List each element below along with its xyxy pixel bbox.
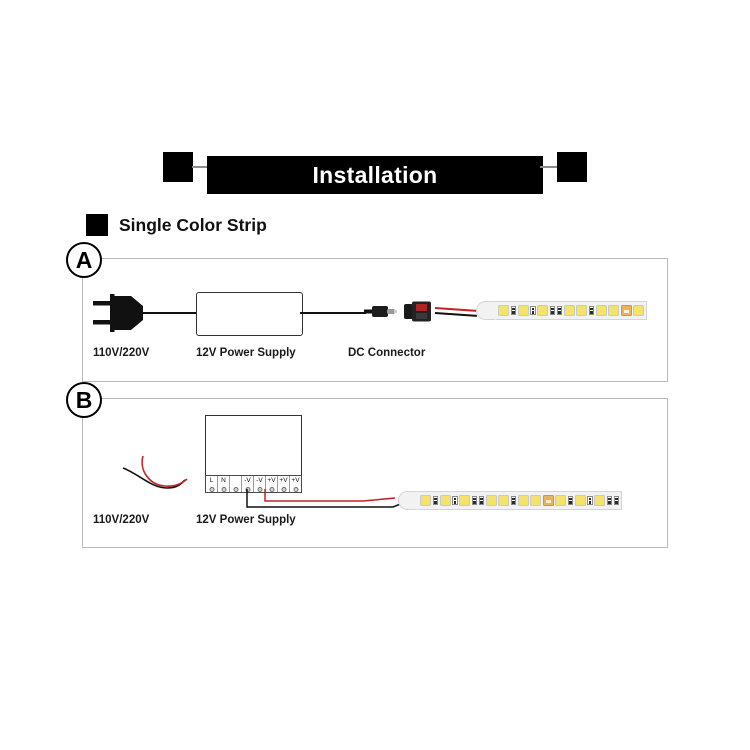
panel-badge-a: A — [66, 242, 102, 278]
dc-barrel-adapter-female-icon — [403, 300, 437, 323]
strip-body — [418, 491, 622, 510]
strip-body — [496, 301, 647, 320]
gold-component — [543, 495, 554, 506]
dc-cord-a — [300, 312, 366, 314]
power-supply-brick-a — [196, 292, 303, 336]
led-chip — [518, 495, 529, 506]
resistor-chip — [452, 496, 458, 505]
led-chip — [518, 305, 529, 316]
section-title: Single Color Strip — [119, 215, 267, 236]
ac-cord-a — [140, 312, 198, 314]
terminal-screw — [209, 487, 214, 492]
led-chip — [575, 495, 586, 506]
led-strip-a — [476, 301, 647, 320]
led-chip — [530, 495, 541, 506]
led-chip — [498, 305, 509, 316]
banner-connector-right — [540, 166, 558, 168]
terminal-screw — [221, 487, 226, 492]
led-chip — [486, 495, 497, 506]
led-chip — [633, 305, 644, 316]
dc-barrel-plug-male-icon — [364, 304, 398, 319]
caption-input-voltage-b: 110V/220V — [93, 514, 149, 526]
led-chip — [564, 305, 575, 316]
terminal-ground — [230, 476, 242, 492]
resistor-chip — [472, 496, 478, 505]
panel-badge-b: B — [66, 382, 102, 418]
terminal-n: N — [218, 476, 230, 492]
banner-end-cap-left — [163, 152, 193, 182]
gold-component — [621, 305, 632, 316]
led-chip — [594, 495, 605, 506]
caption-input-voltage-a: 110V/220V — [93, 347, 149, 359]
led-chip — [440, 495, 451, 506]
dc-lead-black — [435, 312, 477, 317]
page-title: Installation — [312, 162, 437, 189]
resistor-chip — [587, 496, 593, 505]
resistor-chip — [614, 496, 620, 505]
title-banner: Installation — [163, 152, 587, 196]
led-chip — [576, 305, 587, 316]
installation-diagram-page: Installation Single Color Strip A — [0, 0, 750, 750]
led-chip — [459, 495, 470, 506]
resistor-chip — [589, 306, 595, 315]
strip-tip — [398, 491, 418, 510]
resistor-chip — [479, 496, 485, 505]
ac-input-wires-b — [121, 454, 201, 494]
terminal-l: L — [206, 476, 218, 492]
section-heading: Single Color Strip — [86, 214, 267, 236]
resistor-chip — [511, 496, 517, 505]
banner-bar: Installation — [207, 156, 543, 194]
strip-tip — [476, 301, 496, 320]
resistor-chip — [568, 496, 574, 505]
led-chip — [608, 305, 619, 316]
panel-a: A 110V/ — [82, 258, 668, 382]
resistor-chip — [530, 306, 536, 315]
dc-lead-red — [435, 307, 477, 312]
led-chip — [420, 495, 431, 506]
resistor-chip — [607, 496, 613, 505]
led-strip-b — [398, 491, 622, 510]
terminal-screw — [233, 487, 238, 492]
led-chip — [498, 495, 509, 506]
led-chip — [555, 495, 566, 506]
resistor-chip — [511, 306, 517, 315]
resistor-chip — [550, 306, 556, 315]
resistor-chip — [557, 306, 563, 315]
resistor-chip — [433, 496, 439, 505]
dc-output-wires-b — [243, 489, 413, 517]
banner-end-cap-right — [557, 152, 587, 182]
caption-power-supply-a: 12V Power Supply — [196, 347, 296, 359]
led-chip — [537, 305, 548, 316]
square-bullet-icon — [86, 214, 108, 236]
panel-b: B L N -V -V — [82, 398, 668, 548]
led-chip — [596, 305, 607, 316]
caption-power-supply-b: 12V Power Supply — [196, 514, 296, 526]
caption-dc-connector-a: DC Connector — [348, 347, 425, 359]
